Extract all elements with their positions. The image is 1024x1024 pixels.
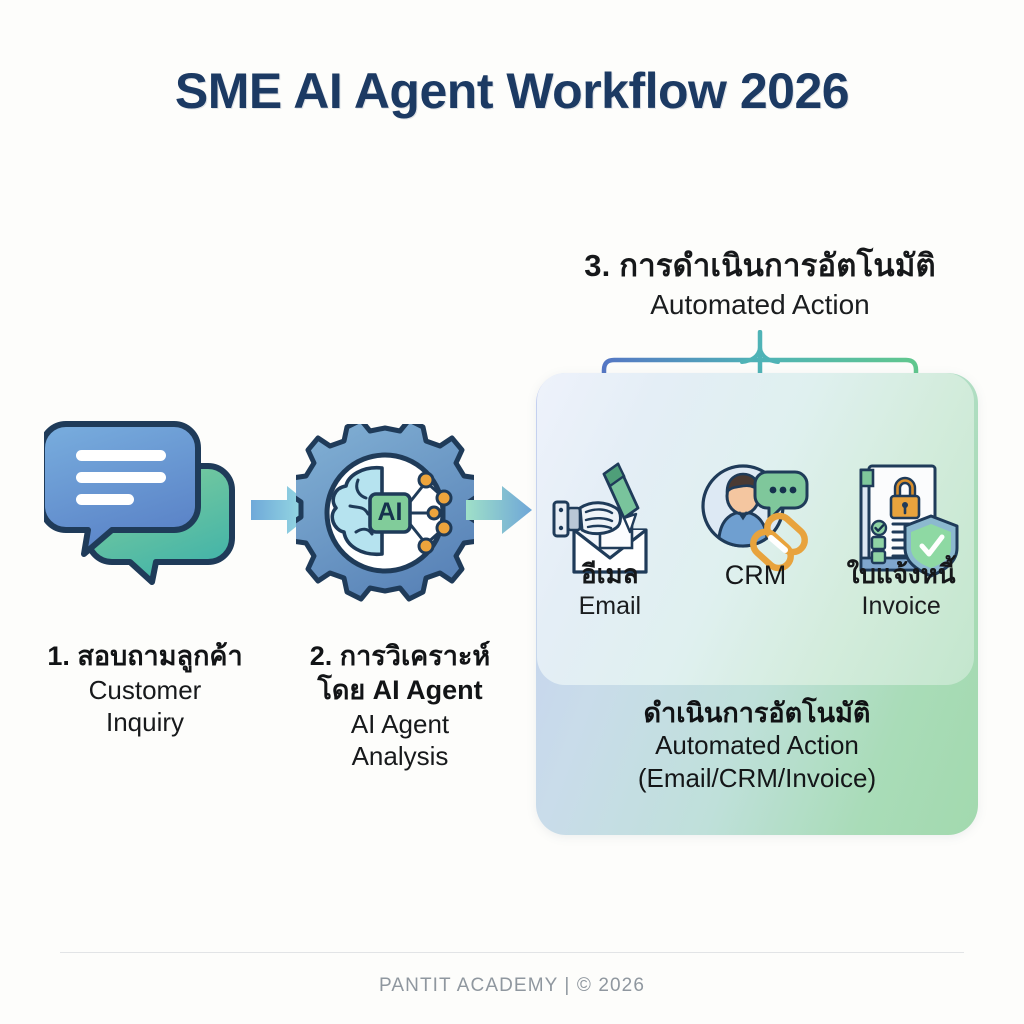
- footer-credit: PANTIT ACADEMY | © 2026: [0, 975, 1024, 997]
- panel-caption-th: ดำเนินการอัตโนมัติ: [540, 697, 974, 729]
- step-3-title-th: 3. การดำเนินการอัตโนมัติ: [520, 248, 1000, 285]
- panel-caption: ดำเนินการอัตโนมัติ Automated Action (Ema…: [540, 697, 974, 794]
- step-2-title-en-1: AI Agent: [280, 708, 520, 741]
- channel-label-crm-th: CRM: [688, 560, 822, 591]
- channel-label-invoice-en: Invoice: [834, 592, 968, 621]
- step-3-heading: 3. การดำเนินการอัตโนมัติ Automated Actio…: [520, 248, 1000, 321]
- channel-label-email-th: อีเมล: [543, 560, 677, 590]
- channel-icon-row: [537, 400, 974, 580]
- chat-bubbles-icon: [44, 418, 256, 603]
- channel-label-email-en: Email: [543, 592, 677, 621]
- footer-divider: [60, 952, 964, 953]
- page-title: SME AI Agent Workflow 2026: [0, 62, 1024, 120]
- step-2-icon[interactable]: AI: [296, 424, 474, 602]
- step-1-title-en-1: Customer: [10, 674, 280, 707]
- channel-label-email: อีเมล Email: [543, 560, 677, 620]
- infographic-canvas: SME AI Agent Workflow 2026 3. การดำเนินก…: [0, 0, 1024, 1024]
- step-1-title-th: 1. สอบถามลูกค้า: [10, 640, 280, 674]
- step-2-title-en-2: Analysis: [280, 740, 520, 773]
- channel-label-invoice-th: ใบแจ้งหนี้: [834, 560, 968, 590]
- panel-caption-en: Automated Action: [540, 730, 974, 761]
- ai-chip-label: AI: [378, 498, 403, 526]
- step-3-title-en: Automated Action: [520, 288, 1000, 321]
- channel-label-row: อีเมล Email CRM ใบแจ้งหนี้ Invoice: [537, 560, 974, 650]
- channel-label-invoice: ใบแจ้งหนี้ Invoice: [834, 560, 968, 620]
- step-1-icon[interactable]: [44, 418, 256, 603]
- step-1-title-en-2: Inquiry: [10, 706, 280, 739]
- channel-label-crm: CRM: [688, 560, 822, 591]
- step-2-title-th-2: โดย AI Agent: [280, 674, 520, 708]
- ai-gear-brain-icon: AI: [296, 424, 474, 602]
- step-2-title-th-1: 2. การวิเคราะห์: [280, 640, 520, 674]
- panel-caption-detail: (Email/CRM/Invoice): [540, 763, 974, 794]
- step-1-caption: 1. สอบถามลูกค้า Customer Inquiry: [10, 640, 280, 739]
- flow-arrow-2-icon: [462, 482, 538, 538]
- step-2-caption: 2. การวิเคราะห์ โดย AI Agent AI Agent An…: [280, 640, 520, 773]
